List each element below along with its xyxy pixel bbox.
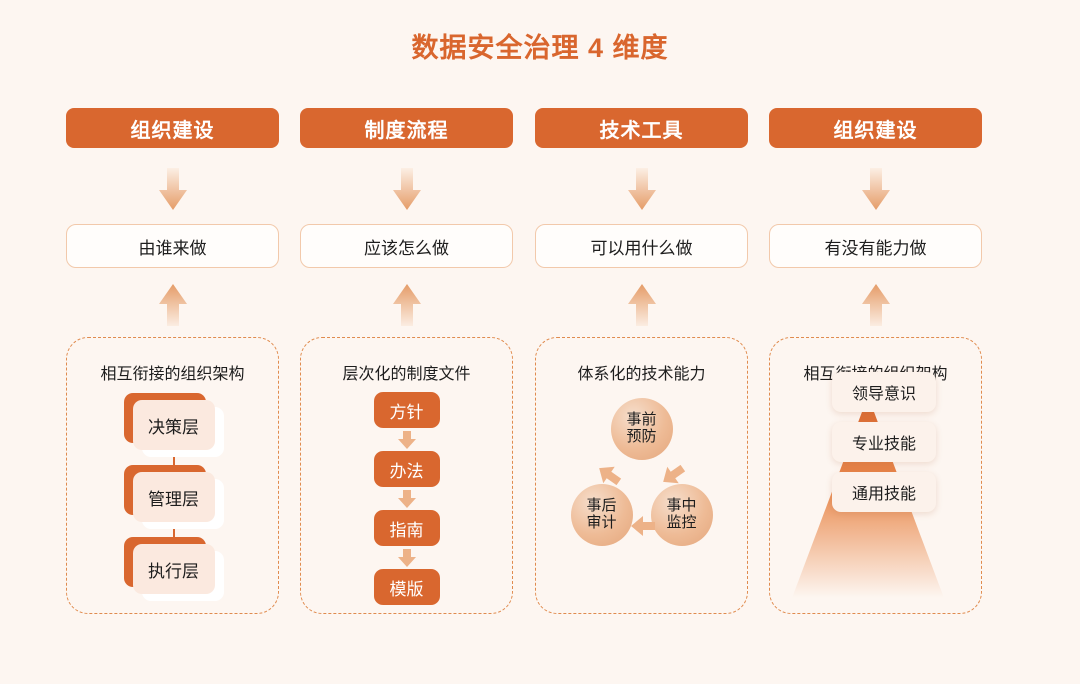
panel-1: 层次化的制度文件 方针 办法 指南 模版 — [300, 337, 513, 614]
cycle-node-line1: 事后 — [586, 498, 616, 515]
policy-box[interactable]: 模版 — [374, 569, 440, 605]
policy-box[interactable]: 办法 — [374, 451, 440, 487]
column-policy-process: 制度流程 应该怎么做 层次化的制度文件 方针 办法 指南 — [300, 0, 513, 684]
org-card[interactable]: 执行层 — [133, 544, 215, 594]
panel-title-0: 相互衔接的组织架构 — [67, 360, 278, 384]
down-arrow-icon-0 — [157, 168, 189, 210]
question-box-2[interactable]: 可以用什么做 — [535, 224, 748, 268]
cycle-node-monitoring[interactable]: 事中 监控 — [651, 484, 713, 546]
up-arrow-icon-2 — [626, 284, 658, 326]
question-box-0[interactable]: 由谁来做 — [66, 224, 279, 268]
org-card-label: 决策层 — [133, 400, 215, 450]
chain-arrow-icon — [397, 431, 417, 449]
panel-3: 相互衔接的组织架构 领导意识 专业技能 通用技能 — [769, 337, 982, 614]
column-header-1[interactable]: 制度流程 — [300, 108, 513, 148]
cycle-node-line2: 预防 — [626, 429, 656, 446]
skill-box[interactable]: 通用技能 — [832, 472, 936, 512]
column-organization-building: 组织建设 由谁来做 相互衔接的组织架构 决策层 — [66, 0, 279, 684]
question-box-1[interactable]: 应该怎么做 — [300, 224, 513, 268]
cycle-node-prevention[interactable]: 事前 预防 — [611, 398, 673, 460]
down-arrow-icon-3 — [860, 168, 892, 210]
column-technical-tools: 技术工具 可以用什么做 体系化的技术能力 事前 预防 事中 监控 — [535, 0, 748, 684]
up-arrow-icon-3 — [860, 284, 892, 326]
skill-box[interactable]: 专业技能 — [832, 422, 936, 462]
cycle-node-line1: 事中 — [666, 498, 696, 515]
panel-2: 体系化的技术能力 事前 预防 事中 监控 事后 审计 — [535, 337, 748, 614]
panel-title-1: 层次化的制度文件 — [301, 360, 512, 384]
cycle-arrow-icon-bottom — [628, 511, 658, 541]
policy-box[interactable]: 方针 — [374, 392, 440, 428]
question-box-3[interactable]: 有没有能力做 — [769, 224, 982, 268]
column-capability: 组织建设 有没有能力做 相互衔接的组织架构 — [769, 0, 982, 684]
column-header-2[interactable]: 技术工具 — [535, 108, 748, 148]
skill-box[interactable]: 领导意识 — [832, 372, 936, 412]
org-card-label: 执行层 — [133, 544, 215, 594]
panel-0: 相互衔接的组织架构 决策层 管理层 执行层 — [66, 337, 279, 614]
up-arrow-icon-1 — [391, 284, 423, 326]
policy-box[interactable]: 指南 — [374, 510, 440, 546]
chain-arrow-icon — [397, 549, 417, 567]
cycle-node-line2: 监控 — [666, 515, 696, 532]
org-card[interactable]: 管理层 — [133, 472, 215, 522]
column-header-3[interactable]: 组织建设 — [769, 108, 982, 148]
cycle-node-line2: 审计 — [586, 515, 616, 532]
diagram-canvas: 数据安全治理 4 维度 组织建设 由谁来做 相互衔接的组织架构 决 — [0, 0, 1080, 684]
down-arrow-icon-2 — [626, 168, 658, 210]
panel-title-2: 体系化的技术能力 — [536, 360, 747, 384]
down-arrow-icon-1 — [391, 168, 423, 210]
column-header-0[interactable]: 组织建设 — [66, 108, 279, 148]
chain-arrow-icon — [397, 490, 417, 508]
up-arrow-icon-0 — [157, 284, 189, 326]
org-stack: 决策层 管理层 执行层 — [67, 394, 280, 609]
org-card[interactable]: 决策层 — [133, 400, 215, 450]
cycle-node-audit[interactable]: 事后 审计 — [571, 484, 633, 546]
cycle-node-line1: 事前 — [626, 412, 656, 429]
org-card-label: 管理层 — [133, 472, 215, 522]
